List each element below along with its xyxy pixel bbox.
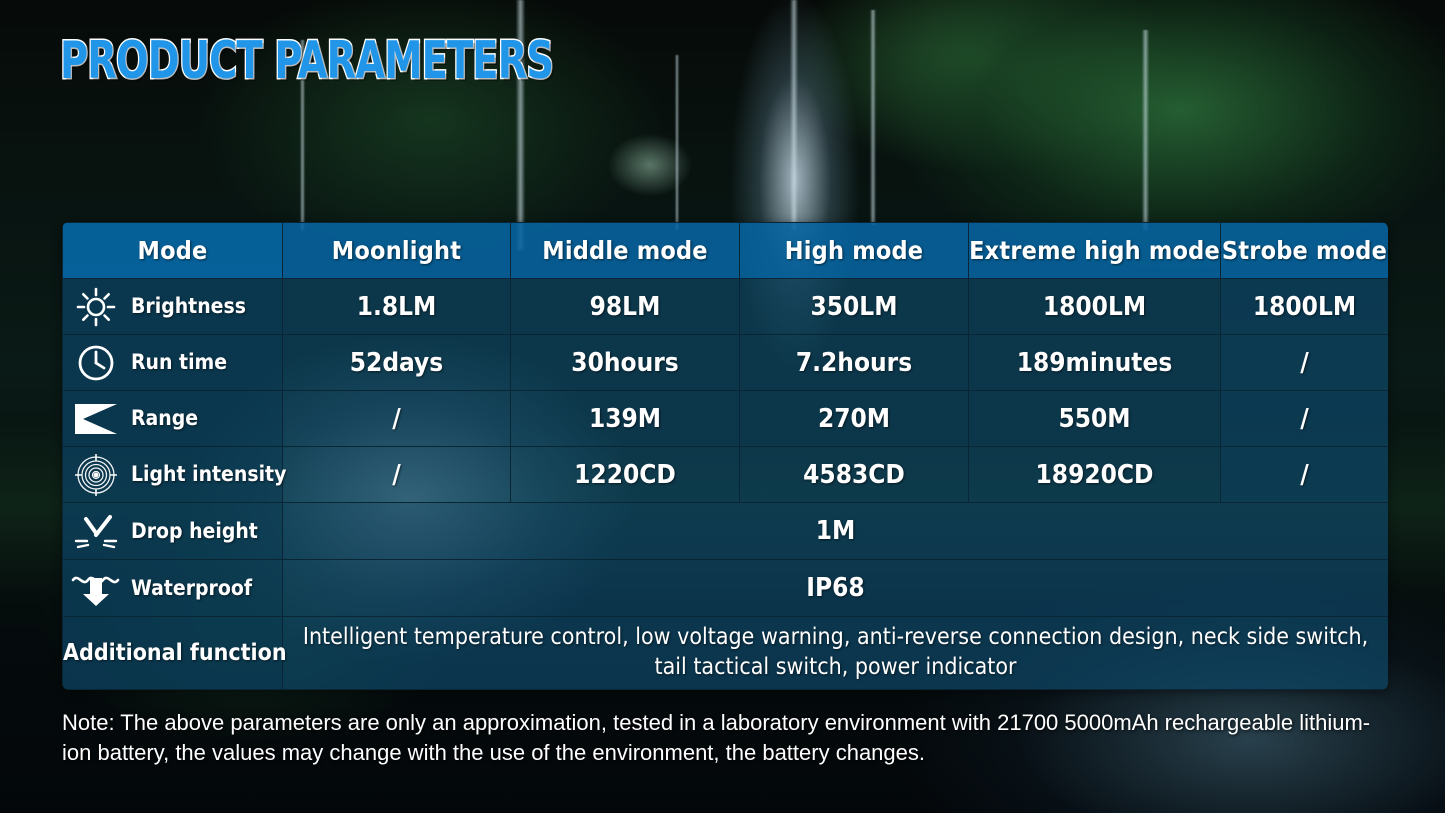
cell-runtime-high: 7.2hours [740, 335, 969, 391]
beam-range-icon [69, 397, 123, 441]
row-label-text: Waterproof [131, 577, 252, 599]
tree-trunk [1142, 30, 1149, 230]
cell-runtime-middle: 30hours [511, 335, 740, 391]
column-header-high-mode: High mode [740, 223, 969, 279]
cell-runtime-moonlight: 52days [283, 335, 511, 391]
row-label-text: Brightness [131, 295, 246, 317]
parameters-table: Mode Moonlight Middle mode High mode Ext… [62, 222, 1388, 690]
table-row: Additional function Intelligent temperat… [63, 617, 1389, 690]
column-header-moonlight: Moonlight [283, 223, 511, 279]
cell-additional-function-value: Intelligent temperature control, low vol… [283, 617, 1389, 690]
row-label-additional-function: Additional function [63, 617, 283, 690]
column-header-middle-mode: Middle mode [511, 223, 740, 279]
row-label-text: Light intensity [131, 463, 286, 485]
tree-trunk [870, 10, 876, 225]
cell-intensity-extreme: 18920CD [969, 447, 1221, 503]
footnote: Note: The above parameters are only an a… [62, 708, 1392, 768]
cell-intensity-strobe: / [1221, 447, 1389, 503]
header-row: Mode Moonlight Middle mode High mode Ext… [63, 223, 1389, 279]
row-label-light-intensity: Light intensity [63, 447, 283, 503]
clock-icon [69, 341, 123, 385]
page-title: PRODUCT PARAMETERS [60, 32, 553, 90]
row-label-run-time: Run time [63, 335, 283, 391]
tree-trunk [675, 55, 679, 230]
waterproof-icon [69, 566, 123, 610]
target-intensity-icon [69, 453, 123, 497]
row-label-text: Drop height [131, 520, 258, 542]
parameters-table-wrapper: Mode Moonlight Middle mode High mode Ext… [62, 222, 1388, 690]
cell-brightness-strobe: 1800LM [1221, 279, 1389, 335]
row-label-range: Range [63, 391, 283, 447]
cell-drop-height-value: 1M [283, 503, 1389, 560]
cell-brightness-high: 350LM [740, 279, 969, 335]
table-row: Drop height 1M [63, 503, 1389, 560]
cell-brightness-middle: 98LM [511, 279, 740, 335]
column-header-mode: Mode [63, 223, 283, 279]
cell-waterproof-value: IP68 [283, 560, 1389, 617]
column-header-strobe-mode: Strobe mode [1221, 223, 1389, 279]
cell-range-strobe: / [1221, 391, 1389, 447]
tree-trunk [790, 0, 798, 230]
cell-range-moonlight: / [283, 391, 511, 447]
row-label-text: Run time [131, 351, 227, 373]
sun-icon [69, 285, 123, 329]
row-label-brightness: Brightness [63, 279, 283, 335]
cell-intensity-moonlight: / [283, 447, 511, 503]
row-label-text: Range [131, 407, 198, 429]
product-parameters-page: PRODUCT PARAMETERS Mode Moonlight Middle… [0, 0, 1445, 813]
table-row: Waterproof IP68 [63, 560, 1389, 617]
cell-intensity-high: 4583CD [740, 447, 969, 503]
cell-brightness-moonlight: 1.8LM [283, 279, 511, 335]
table-row: Light intensity / 1220CD 4583CD 18920CD … [63, 447, 1389, 503]
table-row: Brightness 1.8LM 98LM 350LM 1800LM 1800L… [63, 279, 1389, 335]
row-label-drop-height: Drop height [63, 503, 283, 560]
cell-runtime-strobe: / [1221, 335, 1389, 391]
row-label-waterproof: Waterproof [63, 560, 283, 617]
cell-intensity-middle: 1220CD [511, 447, 740, 503]
cell-range-extreme: 550M [969, 391, 1221, 447]
cell-brightness-extreme: 1800LM [969, 279, 1221, 335]
table-header: Mode Moonlight Middle mode High mode Ext… [63, 223, 1389, 279]
table-body: Brightness 1.8LM 98LM 350LM 1800LM 1800L… [63, 279, 1389, 690]
cell-range-high: 270M [740, 391, 969, 447]
cell-range-middle: 139M [511, 391, 740, 447]
table-row: Run time 52days 30hours 7.2hours 189minu… [63, 335, 1389, 391]
cell-runtime-extreme: 189minutes [969, 335, 1221, 391]
drop-height-icon [69, 509, 123, 553]
column-header-extreme-high-mode: Extreme high mode [969, 223, 1221, 279]
table-row: Range / 139M 270M 550M / [63, 391, 1389, 447]
